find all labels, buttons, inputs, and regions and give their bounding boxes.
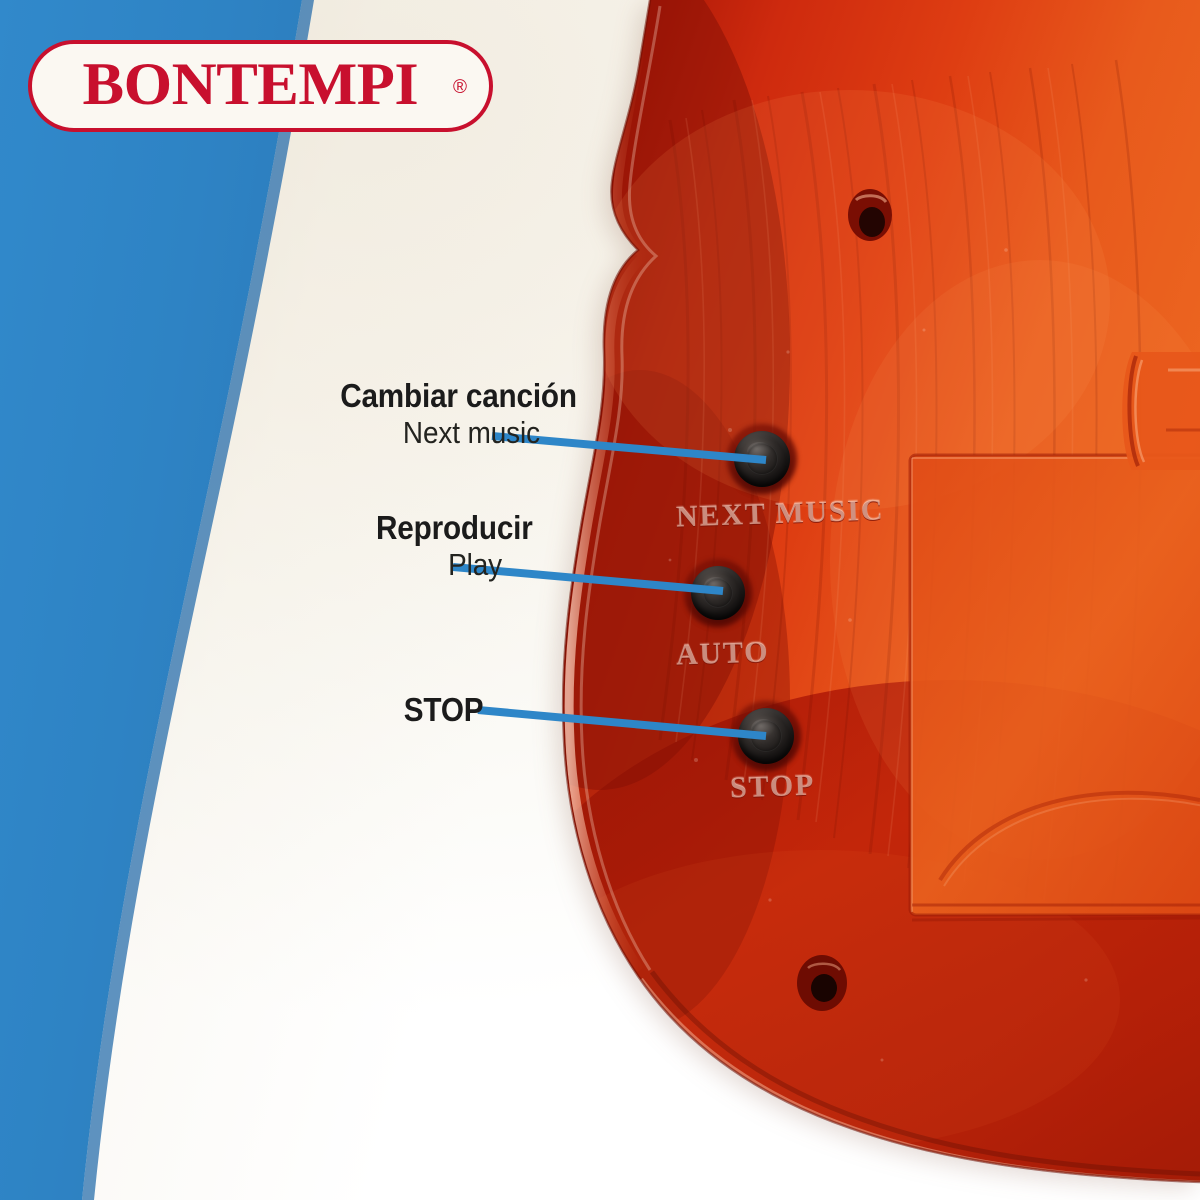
callout-stop: STOP xyxy=(396,692,474,729)
bontempi-logo: BONTEMPI ® xyxy=(28,40,493,132)
callout-subtitle: Play xyxy=(376,547,502,584)
logo-wordmark-text: BONTEMPI xyxy=(83,50,419,119)
callout-play: Reproducir Play xyxy=(362,510,502,584)
registered-trademark-icon: ® xyxy=(453,77,467,99)
callout-title: STOP xyxy=(404,692,474,729)
callout-subtitle: Next music xyxy=(340,415,540,452)
callout-leader-lines xyxy=(0,0,1200,1200)
logo-wordmark: BONTEMPI xyxy=(28,50,493,119)
product-callout-image: NEXT MUSIC AUTO STOP Cambiar canción Nex… xyxy=(0,0,1200,1200)
callout-title: Reproducir xyxy=(376,510,502,547)
leader-line-stop xyxy=(478,710,766,736)
callout-next-music: Cambiar canción Next music xyxy=(318,378,540,452)
callout-title: Cambiar canción xyxy=(340,378,540,415)
